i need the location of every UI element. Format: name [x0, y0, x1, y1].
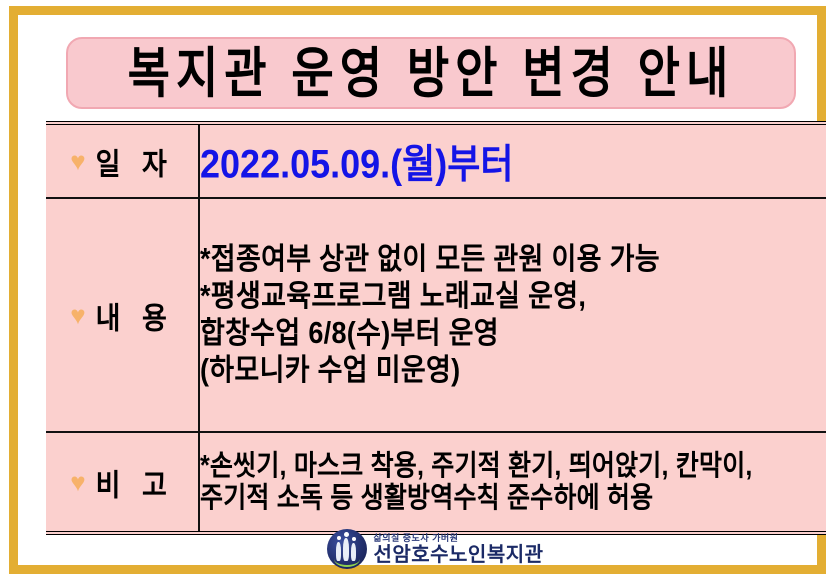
notice-table: ♥ 일 자 2022.05.09.(월)부터 ♥	[46, 121, 826, 535]
logo-organization-name: 선암호수노인복지관	[373, 545, 543, 565]
table-row-date: ♥ 일 자 2022.05.09.(월)부터	[46, 123, 826, 198]
remark-line-2: 주기적 소독 등 생활방역수칙 준수하에 허용	[200, 480, 826, 517]
row-label-text: 내 용	[96, 293, 174, 337]
welfare-center-emblem-icon	[327, 529, 367, 569]
table-row-content: ♥ 내 용 *접종여부 상관 없이 모든 관원 이용 가능 *평생교육프로그램 …	[46, 198, 826, 432]
row-value-date: 2022.05.09.(월)부터	[199, 123, 826, 198]
row-value-remarks: *손씻기, 마스크 착용, 주기적 환기, 띄어앉기, 칸막이, 주기적 소독 …	[199, 432, 826, 533]
content-line-1: *접종여부 상관 없이 모든 관원 이용 가능	[200, 238, 826, 280]
row-value-content: *접종여부 상관 없이 모든 관원 이용 가능 *평생교육프로그램 노래교실 운…	[199, 198, 826, 432]
row-label-remarks: ♥ 비 고	[46, 432, 199, 533]
logo-wordmark: 삶의질 중도사 가버원 선암호수노인복지관	[373, 534, 543, 565]
table-row-remarks: ♥ 비 고 *손씻기, 마스크 착용, 주기적 환기, 띄어앉기, 칸막이, 주…	[46, 432, 826, 533]
content-line-2: *평생교육프로그램 노래교실 운영,	[200, 276, 826, 318]
heart-icon: ♥	[70, 469, 85, 495]
heart-icon: ♥	[70, 302, 85, 328]
heart-icon: ♥	[70, 148, 85, 174]
logo-tagline: 삶의질 중도사 가버원	[373, 534, 458, 543]
row-label-content: ♥ 내 용	[46, 198, 199, 432]
row-label-text: 비 고	[96, 460, 174, 504]
golden-frame-border: 복지관 운영 방안 변경 안내 ♥ 일 자 2022.05.09	[9, 6, 826, 574]
row-label-date: ♥ 일 자	[46, 123, 199, 198]
notice-poster: 복지관 운영 방안 변경 안내 ♥ 일 자 2022.05.09	[0, 0, 835, 585]
remark-line-1: *손씻기, 마스크 착용, 주기적 환기, 띄어앉기, 칸막이,	[200, 447, 826, 484]
title-banner: 복지관 운영 방안 변경 안내	[66, 37, 796, 109]
row-label-text: 일 자	[96, 139, 174, 183]
date-value-text: 2022.05.09.(월)부터	[200, 132, 514, 189]
content-line-3: 합창수업 6/8(수)부터 운영	[200, 313, 826, 355]
content-line-4: (하모니카 수업 미운영)	[200, 350, 826, 392]
poster-inner-area: 복지관 운영 방안 변경 안내 ♥ 일 자 2022.05.09	[38, 31, 833, 581]
page-title: 복지관 운영 방안 변경 안내	[128, 46, 735, 100]
footer-logo: 삶의질 중도사 가버원 선암호수노인복지관	[38, 529, 833, 569]
